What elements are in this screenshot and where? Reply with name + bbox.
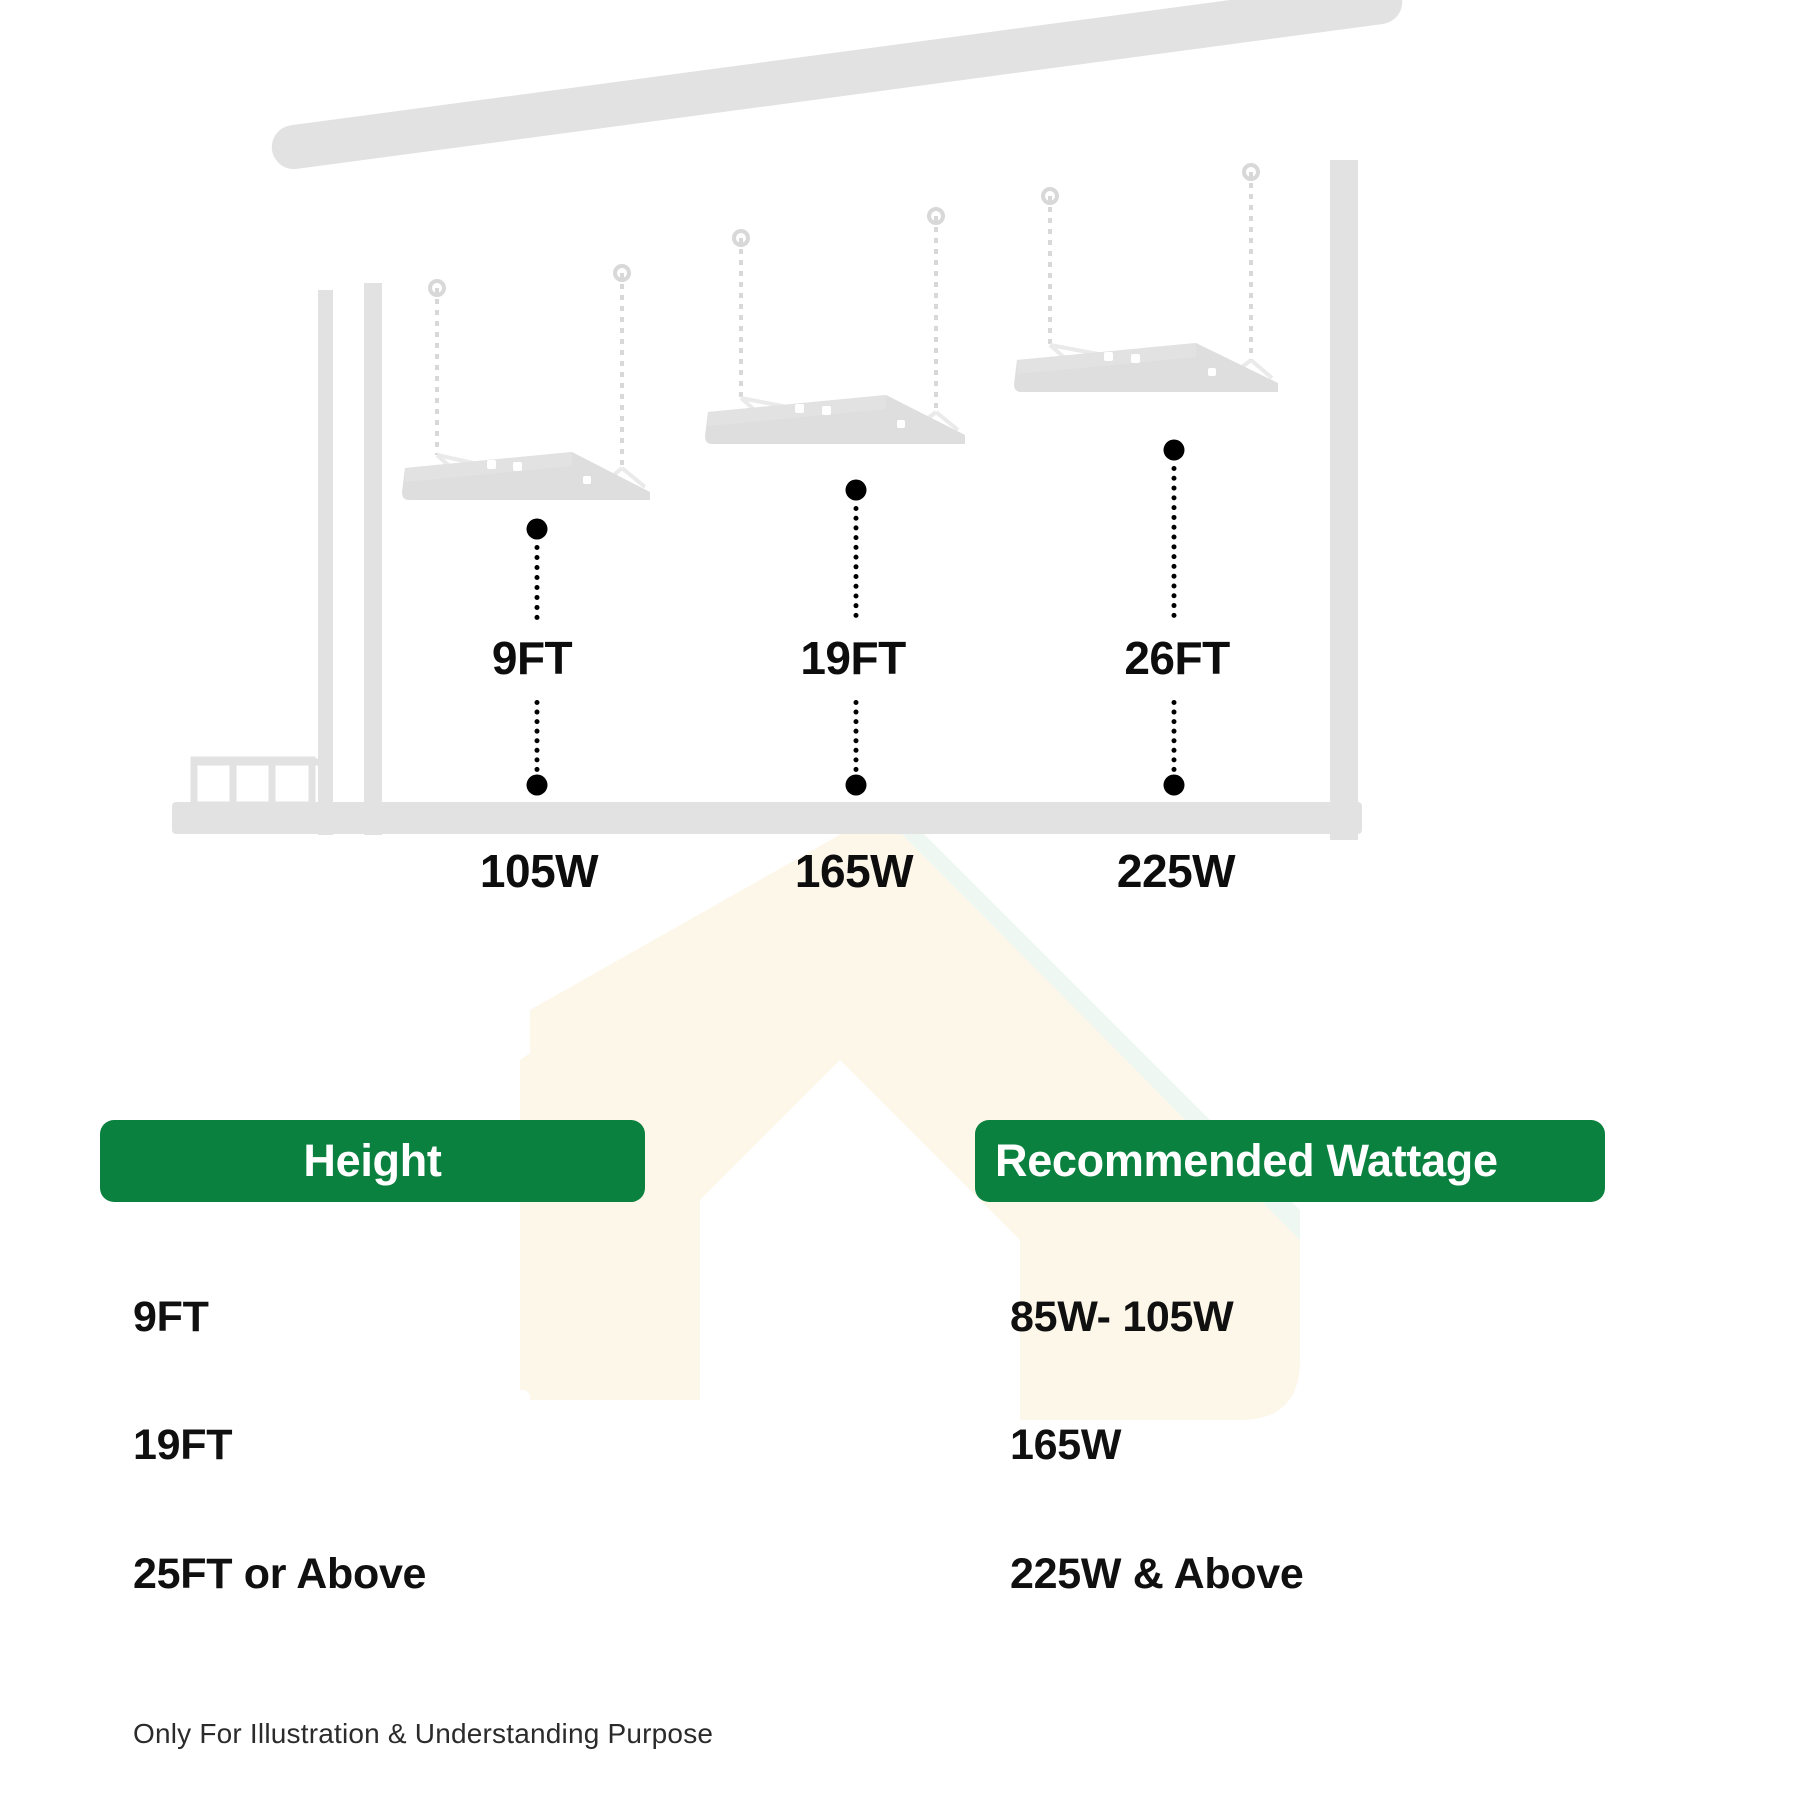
callout-1-top-dot (527, 519, 548, 540)
table-header-height: Height (100, 1120, 645, 1202)
callout-3-wattage-label: 225W (1117, 844, 1235, 898)
callout-2-wattage-label: 165W (795, 844, 913, 898)
callout-3-top-dot (1164, 440, 1185, 461)
callout-2-top-dot (846, 480, 867, 501)
callout-1-height-label: 9FT (492, 631, 572, 685)
light-fixture-1 (402, 266, 650, 500)
table-row: 25FT or Above (133, 1550, 426, 1599)
callout-2-dotted-line-lower (854, 700, 859, 772)
callout-1-bottom-dot (527, 775, 548, 796)
callout-1-wattage-label: 105W (480, 844, 598, 898)
callout-3-dotted-line-upper (1172, 466, 1177, 618)
table-row: 9FT (133, 1293, 209, 1342)
table-header-wattage: Recommended Wattage (975, 1120, 1605, 1202)
light-fixture-3 (1014, 165, 1278, 392)
table-header-height-label: Height (303, 1135, 441, 1187)
callout-3-dotted-line-lower (1172, 700, 1177, 772)
callout-1-dotted-line-upper (535, 545, 540, 620)
recommendation-table: Height Recommended Wattage 9FT 85W- 105W… (0, 1120, 1800, 1640)
support-post-left (318, 290, 333, 835)
table-row: 85W- 105W (1010, 1293, 1233, 1342)
support-post-right (1330, 160, 1358, 840)
callout-3-height-label: 26FT (1124, 631, 1229, 685)
callout-1-dotted-line-lower (535, 700, 540, 772)
footer-disclaimer: Only For Illustration & Understanding Pu… (133, 1718, 713, 1750)
table-row: 19FT (133, 1421, 232, 1470)
light-fixture-2 (705, 209, 965, 444)
roof-beam (269, 0, 1405, 172)
table-row: 225W & Above (1010, 1550, 1304, 1599)
table-row: 165W (1010, 1421, 1121, 1470)
callout-3-bottom-dot (1164, 775, 1185, 796)
table-header-wattage-label: Recommended Wattage (995, 1135, 1498, 1187)
support-post-inner (364, 283, 382, 835)
callout-2-height-label: 19FT (800, 631, 905, 685)
infographic-page: 9FT 105W 19FT 165W 26FT 225W Height Reco… (0, 0, 1800, 1800)
callout-2-bottom-dot (846, 775, 867, 796)
callout-2-dotted-line-upper (854, 506, 859, 618)
floor-slab (172, 802, 1362, 834)
railing-panels (194, 760, 330, 805)
